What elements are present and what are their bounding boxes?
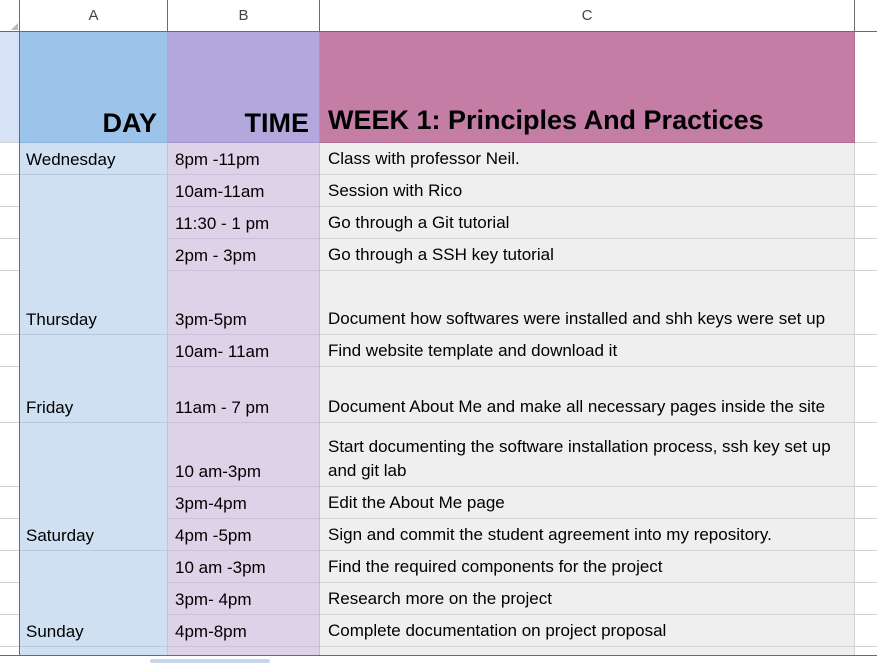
header-cell-time[interactable]: TIME	[168, 32, 320, 143]
day-cell[interactable]: Wednesday	[20, 143, 168, 175]
task-cell[interactable]: Complete documentation on project propos…	[320, 615, 855, 647]
task-cell[interactable]: Document how softwares were installed an…	[320, 271, 855, 335]
time-cell[interactable]: 4pm -5pm	[168, 519, 320, 551]
row-number-cell[interactable]	[0, 175, 19, 207]
cell-d[interactable]	[855, 207, 877, 239]
task-cell[interactable]: Find the required components for the pro…	[320, 551, 855, 583]
row-number-cell[interactable]	[0, 367, 19, 423]
time-cell[interactable]: 11am - 7 pm	[168, 367, 320, 423]
time-cell[interactable]: 2pm - 3pm	[168, 239, 320, 271]
row-number-cell[interactable]	[0, 615, 19, 647]
task-cell[interactable]: Session with Rico	[320, 175, 855, 207]
spreadsheet-grid: A B C DAYWednesdayThursdayFridaySaturday…	[0, 0, 877, 670]
time-cell[interactable]: 10 am -3pm	[168, 551, 320, 583]
task-cell[interactable]: Go through a SSH key tutorial	[320, 239, 855, 271]
task-cell[interactable]: Start documenting the software installat…	[320, 423, 855, 487]
cell-d[interactable]	[855, 175, 877, 207]
column-b-time: TIME8pm -11pm10am-11am11:30 - 1 pm2pm - …	[168, 32, 320, 663]
corner-triangle-icon	[11, 23, 18, 30]
bottom-strip	[0, 655, 877, 671]
column-header-d[interactable]	[855, 0, 877, 31]
task-cell[interactable]: Sign and commit the student agreement in…	[320, 519, 855, 551]
column-header-row: A B C	[0, 0, 877, 32]
header-cell-week-title[interactable]: WEEK 1: Principles And Practices	[320, 32, 855, 143]
select-all-corner[interactable]	[0, 0, 20, 31]
cell-d[interactable]	[855, 239, 877, 271]
cell-d-header[interactable]	[855, 32, 877, 143]
row-number-cell[interactable]	[0, 487, 19, 519]
time-cell[interactable]: 10 am-3pm	[168, 423, 320, 487]
row-number-cell[interactable]	[0, 207, 19, 239]
cell-d[interactable]	[855, 615, 877, 647]
row-number-gutter	[0, 32, 20, 663]
row-number-cell[interactable]	[0, 143, 19, 175]
column-header-b[interactable]: B	[168, 0, 320, 31]
column-d-empty	[855, 32, 877, 663]
day-cell[interactable]: Friday	[20, 335, 168, 423]
cell-d[interactable]	[855, 487, 877, 519]
cell-d[interactable]	[855, 271, 877, 335]
cell-d[interactable]	[855, 551, 877, 583]
row-number-cell[interactable]	[0, 423, 19, 487]
task-cell[interactable]: Find website template and download it	[320, 335, 855, 367]
row-number-cell[interactable]	[0, 335, 19, 367]
cell-d[interactable]	[855, 143, 877, 175]
column-c-task: WEEK 1: Principles And PracticesClass wi…	[320, 32, 855, 663]
column-header-c[interactable]: C	[320, 0, 855, 31]
row-number-cell[interactable]	[0, 551, 19, 583]
time-cell[interactable]: 4pm-8pm	[168, 615, 320, 647]
time-cell[interactable]: 10am-11am	[168, 175, 320, 207]
column-a-day: DAYWednesdayThursdayFridaySaturdaySunday	[20, 32, 168, 663]
sheet-tab-hint[interactable]	[150, 659, 270, 663]
column-header-a[interactable]: A	[20, 0, 168, 31]
day-cell[interactable]: Sunday	[20, 551, 168, 647]
task-cell[interactable]: Go through a Git tutorial	[320, 207, 855, 239]
time-cell[interactable]: 3pm-4pm	[168, 487, 320, 519]
row-number-cell[interactable]	[0, 239, 19, 271]
time-cell[interactable]: 3pm- 4pm	[168, 583, 320, 615]
task-cell[interactable]: Class with professor Neil.	[320, 143, 855, 175]
cell-d[interactable]	[855, 583, 877, 615]
row-number-cell[interactable]	[0, 583, 19, 615]
time-cell[interactable]: 10am- 11am	[168, 335, 320, 367]
grid-body: DAYWednesdayThursdayFridaySaturdaySunday…	[0, 32, 877, 663]
cell-d[interactable]	[855, 367, 877, 423]
row-number-cell[interactable]	[0, 519, 19, 551]
task-cell[interactable]: Document About Me and make all necessary…	[320, 367, 855, 423]
time-cell[interactable]: 11:30 - 1 pm	[168, 207, 320, 239]
grid-columns: DAYWednesdayThursdayFridaySaturdaySunday…	[20, 32, 877, 663]
row-number-header[interactable]	[0, 32, 19, 143]
day-cell[interactable]: Saturday	[20, 423, 168, 551]
header-cell-day[interactable]: DAY	[20, 32, 168, 143]
cell-d[interactable]	[855, 519, 877, 551]
cell-d[interactable]	[855, 335, 877, 367]
time-cell[interactable]: 8pm -11pm	[168, 143, 320, 175]
task-cell[interactable]: Edit the About Me page	[320, 487, 855, 519]
row-number-cell[interactable]	[0, 271, 19, 335]
day-cell[interactable]: Thursday	[20, 175, 168, 335]
time-cell[interactable]: 3pm-5pm	[168, 271, 320, 335]
cell-d[interactable]	[855, 423, 877, 487]
task-cell[interactable]: Research more on the project	[320, 583, 855, 615]
